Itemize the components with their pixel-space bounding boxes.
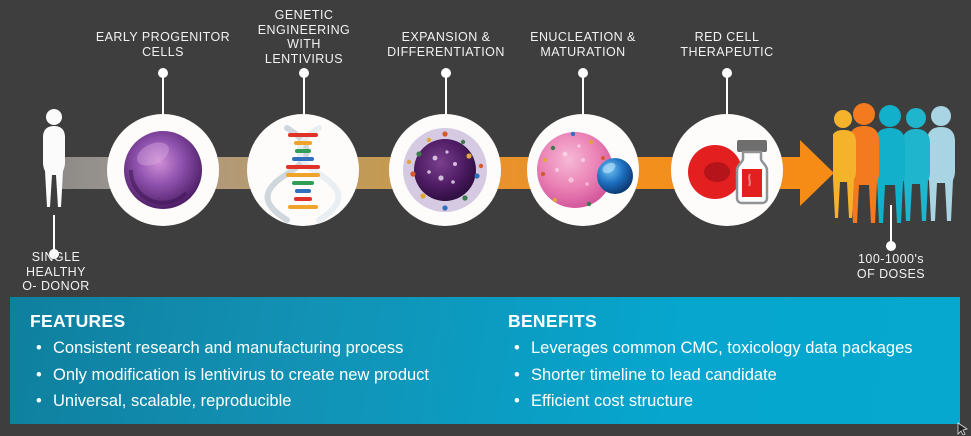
process-arrow-tip-icon bbox=[800, 140, 834, 206]
bullet-icon: • bbox=[514, 388, 520, 415]
list-item-text: Consistent research and manufacturing pr… bbox=[53, 339, 403, 357]
list-item-text: Shorter timeline to lead candidate bbox=[531, 366, 777, 384]
step-leader-line-2 bbox=[303, 77, 305, 115]
red-blood-cell bbox=[688, 145, 742, 199]
red-cell-vial-icon bbox=[671, 114, 783, 226]
donor-label: SINGLE HEALTHY O- DONOR bbox=[0, 250, 112, 294]
step-node-expansion-differentiation[interactable] bbox=[389, 114, 501, 226]
benefits-heading: BENEFITS bbox=[508, 311, 913, 332]
progenitor-cell-icon bbox=[107, 114, 219, 226]
step-label-genetic-engineering: GENETIC ENGINEERING WITH LENTIVIRUS bbox=[240, 8, 368, 66]
list-item: • Efficient cost structure bbox=[508, 388, 913, 415]
list-item-text: Only modification is lentivirus to creat… bbox=[53, 366, 429, 384]
features-column: FEATURES • Consistent research and manuf… bbox=[30, 311, 429, 415]
list-item-text: Efficient cost structure bbox=[531, 392, 693, 410]
list-item-text: Universal, scalable, reproducible bbox=[53, 392, 291, 410]
list-item: • Leverages common CMC, toxicology data … bbox=[508, 335, 913, 362]
step-label-red-cell-therapeutic: RED CELL THERAPEUTIC bbox=[655, 30, 799, 59]
enucleating-cell-icon bbox=[527, 114, 639, 226]
slide-canvas: SINGLE HEALTHY O- DONOR 100-1000's OF DO… bbox=[0, 0, 971, 436]
bullet-icon: • bbox=[514, 362, 520, 389]
donor-silhouette-icon bbox=[36, 108, 72, 218]
step-node-genetic-engineering[interactable] bbox=[247, 114, 359, 226]
step-node-early-progenitor-cells[interactable] bbox=[107, 114, 219, 226]
step-leader-line-4 bbox=[582, 77, 584, 115]
list-item: • Consistent research and manufacturing … bbox=[30, 335, 429, 362]
step-leader-line-1 bbox=[162, 77, 164, 115]
list-item: • Only modification is lentivirus to cre… bbox=[30, 362, 429, 389]
step-label-enucleation-maturation: ENUCLEATION & MATURATION bbox=[508, 30, 658, 59]
bullet-icon: • bbox=[36, 362, 42, 389]
step-leader-line-3 bbox=[445, 77, 447, 115]
doses-label: 100-1000's OF DOSES bbox=[835, 252, 947, 281]
step-leader-line-5 bbox=[726, 77, 728, 115]
benefits-column: BENEFITS • Leverages common CMC, toxicol… bbox=[508, 311, 913, 415]
list-item: • Shorter timeline to lead candidate bbox=[508, 362, 913, 389]
features-heading: FEATURES bbox=[30, 311, 429, 332]
features-list: • Consistent research and manufacturing … bbox=[30, 335, 429, 415]
bullet-icon: • bbox=[36, 388, 42, 415]
features-benefits-panel: FEATURES • Consistent research and manuf… bbox=[10, 297, 960, 424]
differentiating-cell-icon bbox=[389, 114, 501, 226]
mouse-cursor-icon bbox=[957, 422, 969, 435]
dna-helix-icon bbox=[247, 114, 359, 226]
people-group-icon bbox=[833, 103, 961, 223]
step-label-expansion-differentiation: EXPANSION & DIFFERENTIATION bbox=[370, 30, 522, 59]
bullet-icon: • bbox=[514, 335, 520, 362]
step-label-early-progenitor-cells: EARLY PROGENITOR CELLS bbox=[88, 30, 238, 59]
bullet-icon: • bbox=[36, 335, 42, 362]
doses-leader-line bbox=[890, 205, 892, 245]
vial bbox=[737, 140, 767, 203]
list-item: • Universal, scalable, reproducible bbox=[30, 388, 429, 415]
benefits-list: • Leverages common CMC, toxicology data … bbox=[508, 335, 913, 415]
step-node-red-cell-therapeutic[interactable] bbox=[671, 114, 783, 226]
step-node-enucleation-maturation[interactable] bbox=[527, 114, 639, 226]
donor-leader-line bbox=[53, 215, 55, 253]
list-item-text: Leverages common CMC, toxicology data pa… bbox=[531, 339, 913, 357]
